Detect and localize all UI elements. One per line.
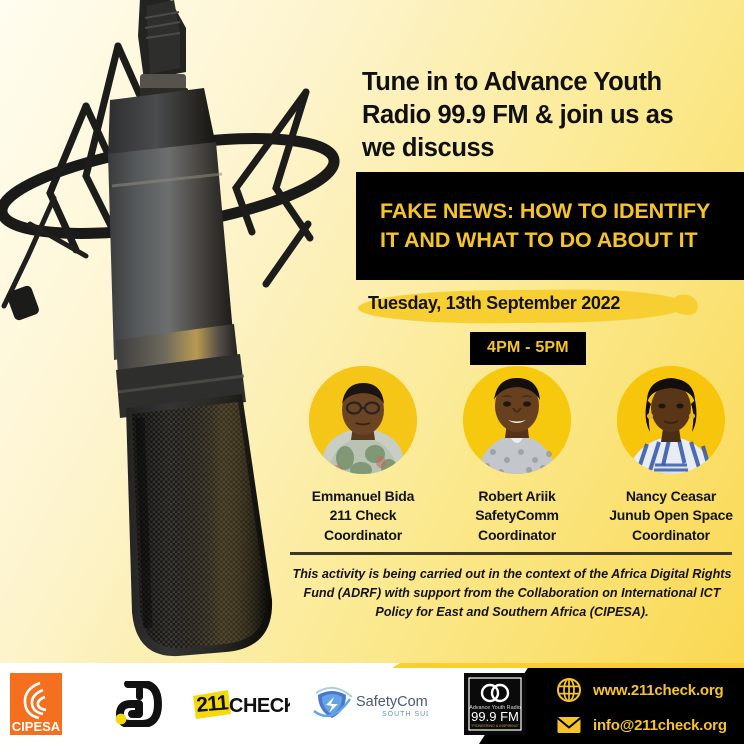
avatar xyxy=(463,366,571,474)
globe-icon xyxy=(556,677,582,703)
211check-word: CHECK xyxy=(229,695,290,717)
speaker-name: Nancy Ceasar Junub Open Space Coordinato… xyxy=(609,487,733,545)
cipesa-label: CIPESA xyxy=(12,719,61,734)
promo-poster: Tune in to Advance Youth Radio 99.9 FM &… xyxy=(0,0,744,744)
event-time: 4PM - 5PM xyxy=(470,332,586,365)
speaker-card: Robert Ariik SafetyComm Coordinator xyxy=(444,366,590,545)
topic-title: FAKE NEWS: HOW TO IDENTIFY IT AND WHAT T… xyxy=(356,197,744,254)
envelope-icon xyxy=(556,712,582,738)
avatar xyxy=(617,366,725,474)
speaker-name: Robert Ariik SafetyComm Coordinator xyxy=(475,487,559,545)
avatar xyxy=(309,366,417,474)
funding-disclaimer: This activity is being carried out in th… xyxy=(290,565,734,622)
211check-number: 211 xyxy=(195,691,229,717)
topic-banner: FAKE NEWS: HOW TO IDENTIFY IT AND WHAT T… xyxy=(356,172,744,280)
speaker-card: Emmanuel Bida 211 Check Coordinator xyxy=(290,366,436,545)
speaker-card: Nancy Ceasar Junub Open Space Coordinato… xyxy=(598,366,744,545)
event-date: Tuesday, 13th September 2022 xyxy=(368,293,620,314)
email-row[interactable]: info@211check.org xyxy=(556,712,744,738)
speaker-name: Emmanuel Bida 211 Check Coordinator xyxy=(312,487,414,545)
speakers-list: Emmanuel Bida 211 Check Coordinator xyxy=(290,366,744,545)
radio-frequency: 99.9 FM xyxy=(471,709,519,724)
cipesa-logo: CIPESA xyxy=(10,673,62,735)
safetycomm-sublabel: SOUTH SUDAN xyxy=(382,711,428,718)
contact-block: www.211check.org info@211check.org xyxy=(556,677,744,744)
safetycomm-logo: SafetyComm SOUTH SUDAN xyxy=(312,686,428,722)
website-url: www.211check.org xyxy=(593,682,723,699)
date-row: Tuesday, 13th September 2022 xyxy=(362,290,702,328)
website-row[interactable]: www.211check.org xyxy=(556,677,744,703)
headline: Tune in to Advance Youth Radio 99.9 FM &… xyxy=(362,66,692,165)
safetycomm-label: SafetyComm xyxy=(356,694,428,710)
divider xyxy=(290,552,732,555)
footer: CIPESA 211 CHECK xyxy=(0,663,744,744)
advance-youth-radio-logo: Advance Youth Radio 99.9 FM "PIONEERING … xyxy=(464,673,526,735)
radio-tagline: "PIONEERING & INSPIRING" xyxy=(471,724,520,728)
defyhatenow-logo xyxy=(108,681,162,727)
211check-logo: 211 CHECK xyxy=(192,687,290,721)
email-address: info@211check.org xyxy=(593,717,727,734)
poster-content: Tune in to Advance Youth Radio 99.9 FM &… xyxy=(362,0,744,744)
partner-logos: CIPESA 211 CHECK xyxy=(0,663,526,744)
